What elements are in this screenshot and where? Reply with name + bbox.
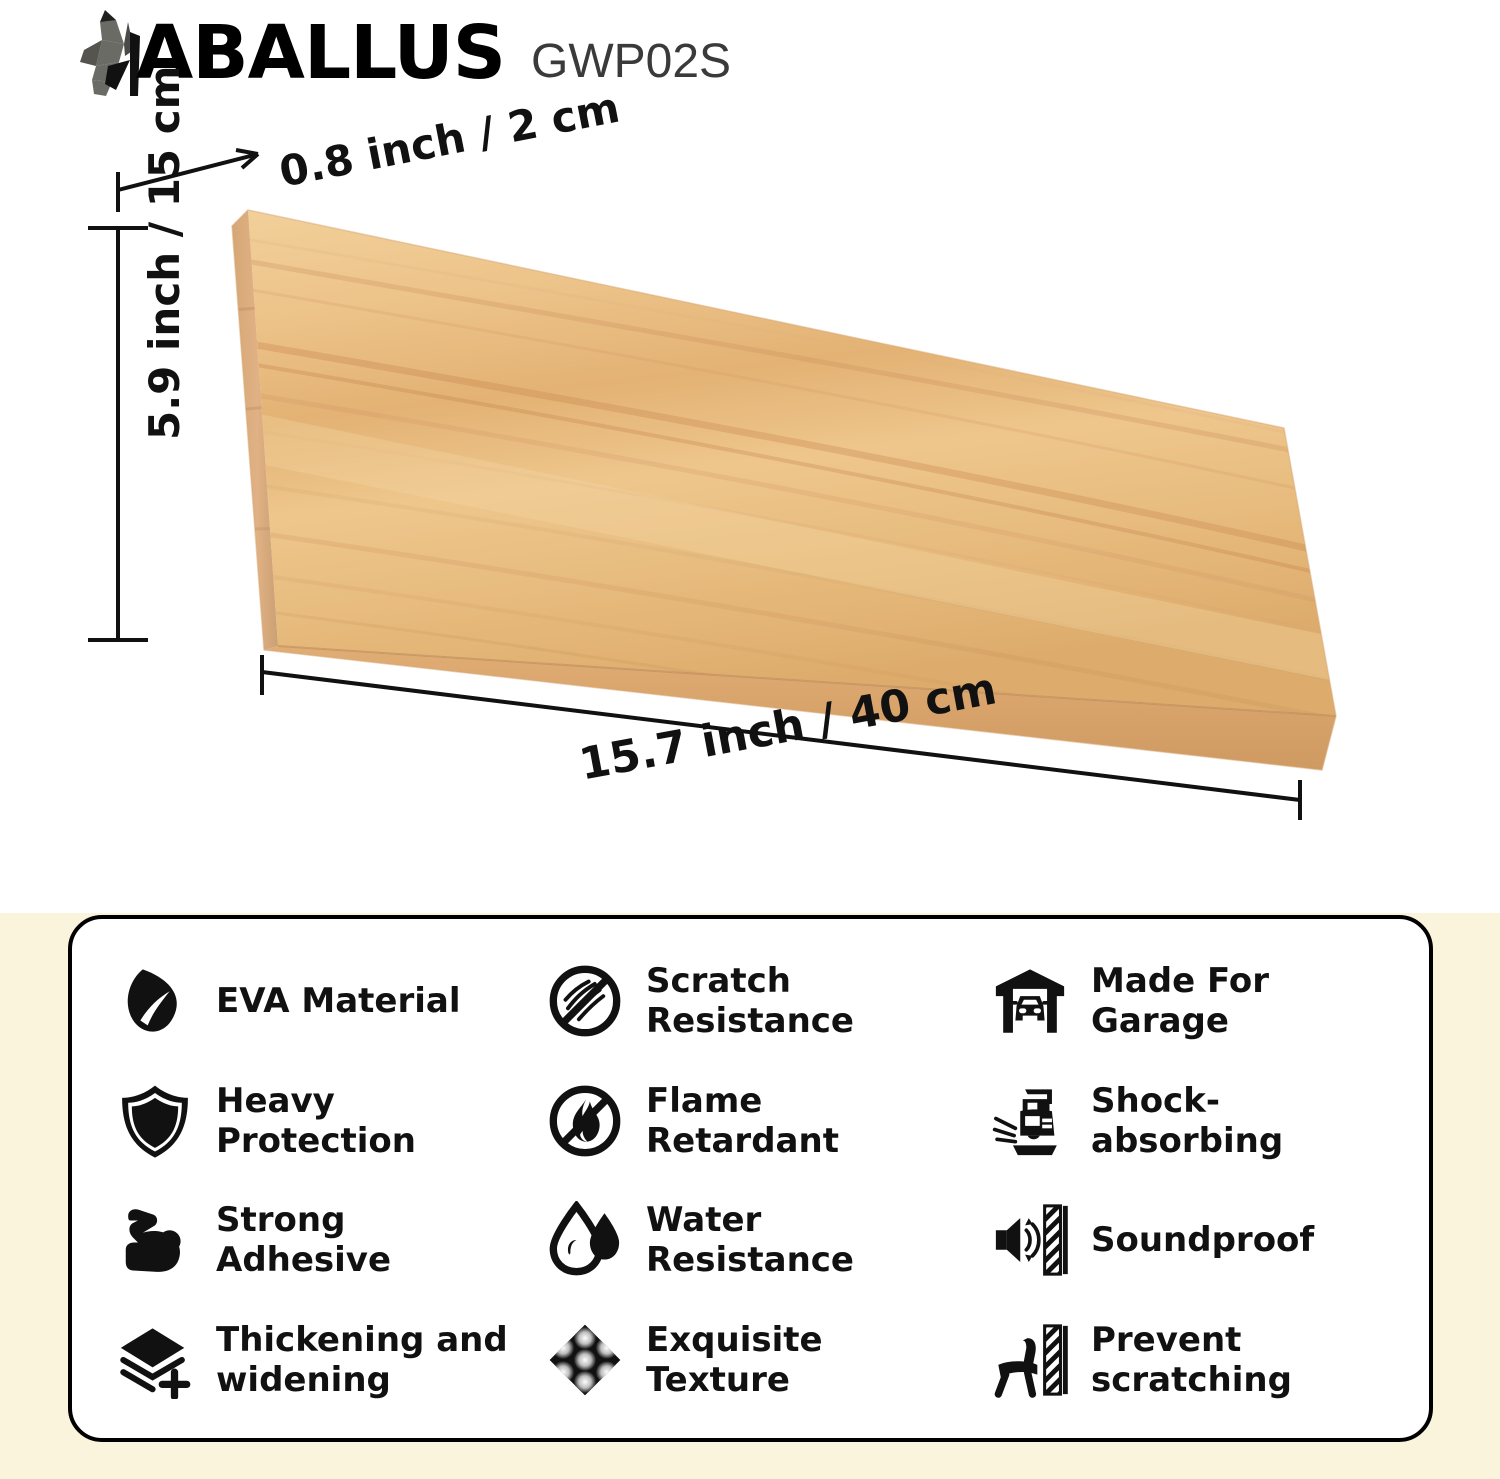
feature-label: Made For Garage <box>1091 961 1401 1041</box>
speaker-wall-icon <box>991 1201 1069 1279</box>
texture-diamond-icon <box>546 1321 624 1399</box>
feature-item: Prevent scratching <box>991 1300 1431 1420</box>
feature-item: Exquisite Texture <box>546 1300 991 1420</box>
garage-car-icon <box>991 962 1069 1040</box>
feature-label: Prevent scratching <box>1091 1320 1401 1400</box>
feature-label: Thickening and widening <box>216 1320 526 1400</box>
water-drop-icon <box>546 1201 624 1279</box>
feature-label: Soundproof <box>1091 1220 1314 1260</box>
horse-head-mark-icon <box>72 10 144 96</box>
muscle-arm-icon <box>116 1201 194 1279</box>
feature-item: Heavy Protection <box>116 1061 546 1181</box>
feature-item: Flame Retardant <box>546 1061 991 1181</box>
product-infographic: ABALLUS GWP02S <box>0 0 1500 1479</box>
features-grid: EVA Material Scrat <box>72 919 1429 1438</box>
product-illustration: 0.8 inch / 2 cm 5.9 inch / 15 cm 15.7 in… <box>0 110 1500 910</box>
feature-item: Soundproof <box>991 1181 1431 1301</box>
model-number: GWP02S <box>531 38 731 86</box>
feature-label: Strong Adhesive <box>216 1200 526 1280</box>
feature-item: EVA Material <box>116 941 546 1061</box>
no-scratch-icon <box>546 962 624 1040</box>
chair-wall-icon <box>991 1321 1069 1399</box>
brand-name: ABALLUS <box>136 16 505 90</box>
leaf-icon <box>116 962 194 1040</box>
feature-label: Scratch Resistance <box>646 961 956 1041</box>
feature-item: Made For Garage <box>991 941 1431 1061</box>
height-label: 5.9 inch / 15 cm <box>140 66 189 440</box>
feature-label: Flame Retardant <box>646 1081 956 1161</box>
feature-item: Strong Adhesive <box>116 1181 546 1301</box>
feature-item: Shock-absorbing <box>991 1061 1431 1181</box>
features-card: EVA Material Scrat <box>68 915 1433 1442</box>
feature-label: Water Resistance <box>646 1200 956 1280</box>
shield-icon <box>116 1082 194 1160</box>
feature-label: Exquisite Texture <box>646 1320 956 1400</box>
feature-item: Water Resistance <box>546 1181 991 1301</box>
wooden-board-image <box>0 110 1500 910</box>
feature-label: Shock-absorbing <box>1091 1081 1401 1161</box>
height-dimension-line <box>88 228 148 640</box>
car-impact-icon <box>991 1082 1069 1160</box>
feature-item: Thickening and widening <box>116 1300 546 1420</box>
feature-label: Heavy Protection <box>216 1081 526 1161</box>
feature-item: Scratch Resistance <box>546 941 991 1061</box>
no-flame-icon <box>546 1082 624 1160</box>
feature-label: EVA Material <box>216 981 461 1021</box>
layers-plus-icon <box>116 1321 194 1399</box>
